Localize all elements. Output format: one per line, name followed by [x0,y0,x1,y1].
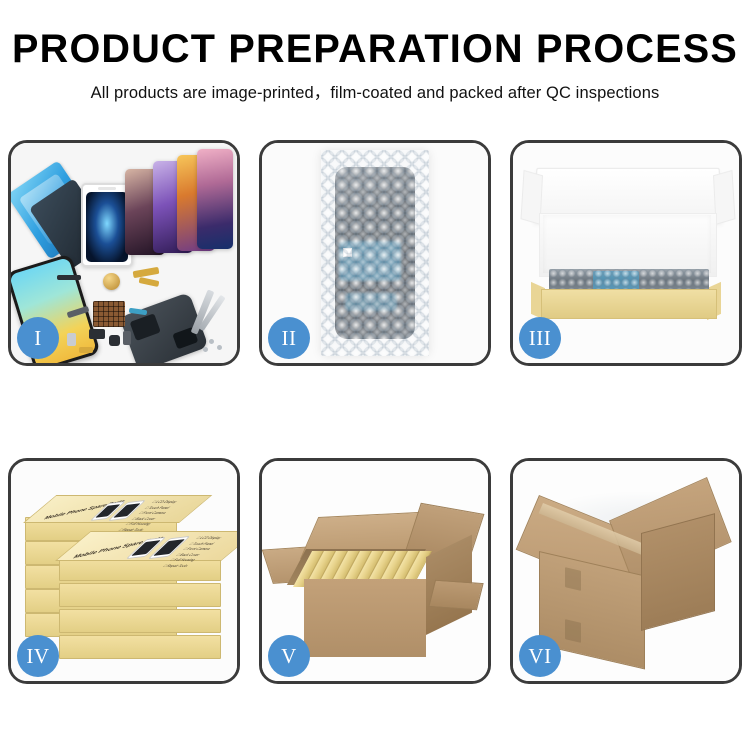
flex-cable-1 [133,267,160,278]
carton-hand-hole-bottom [565,619,581,643]
battery-connector [89,329,105,339]
step-panel-6: VI [510,458,742,684]
sim-tray-part [67,333,76,346]
chip-array-part [93,301,125,327]
stacked-box-front-3 [59,609,221,633]
step-badge-6: VI [519,635,561,677]
step-badge-2: II [268,317,310,359]
back-box-printed-top: Mobile Phone Spare Parts □ LCD Display□ … [23,495,212,523]
step-badge-3: III [519,317,561,359]
page-subtitle: All products are image-printed，film-coat… [0,79,750,103]
sealed-carton-side [641,513,715,631]
carton-front-face [304,579,426,657]
foam-padding [543,215,711,273]
page-title: PRODUCT PREPARATION PROCESS [4,28,747,70]
step-panel-5: V [259,458,491,684]
page-header: PRODUCT PREPARATION PROCESS All products… [0,0,750,103]
gold-contact-part [79,347,93,353]
step-panel-2: II [259,140,491,366]
carton-hand-hole-top [565,567,581,591]
carton-flap-right [428,580,483,611]
screw-1 [209,339,214,344]
step-badge-1: I [17,317,59,359]
step-badge-5: V [268,635,310,677]
phone-notch [98,187,116,190]
screw-2 [217,345,222,350]
process-steps-grid: I II [8,140,742,684]
button-part [123,331,131,345]
glass-screen-graphic [86,192,128,262]
step-badge-4: IV [17,635,59,677]
step-panel-1: I [8,140,240,366]
bubble-layer-back [321,150,429,356]
camera-module [109,335,120,346]
step-panel-4: Mobile Phone Spare Parts □ LCD Display□ … [8,458,240,684]
step-panel-3: III [510,140,742,366]
speaker-part [57,275,81,280]
phone-pink [197,149,233,249]
stacked-box-front-4 [59,635,221,659]
product-preparation-page: PRODUCT PREPARATION PROCESS All products… [0,0,750,750]
bubble-wrap-sleeve [321,150,429,356]
vibration-motor-part [103,273,120,290]
stacked-box-front-2 [59,583,221,607]
screw-3 [203,347,208,352]
flex-cable-2 [139,277,160,287]
box-front-wall [541,289,717,319]
